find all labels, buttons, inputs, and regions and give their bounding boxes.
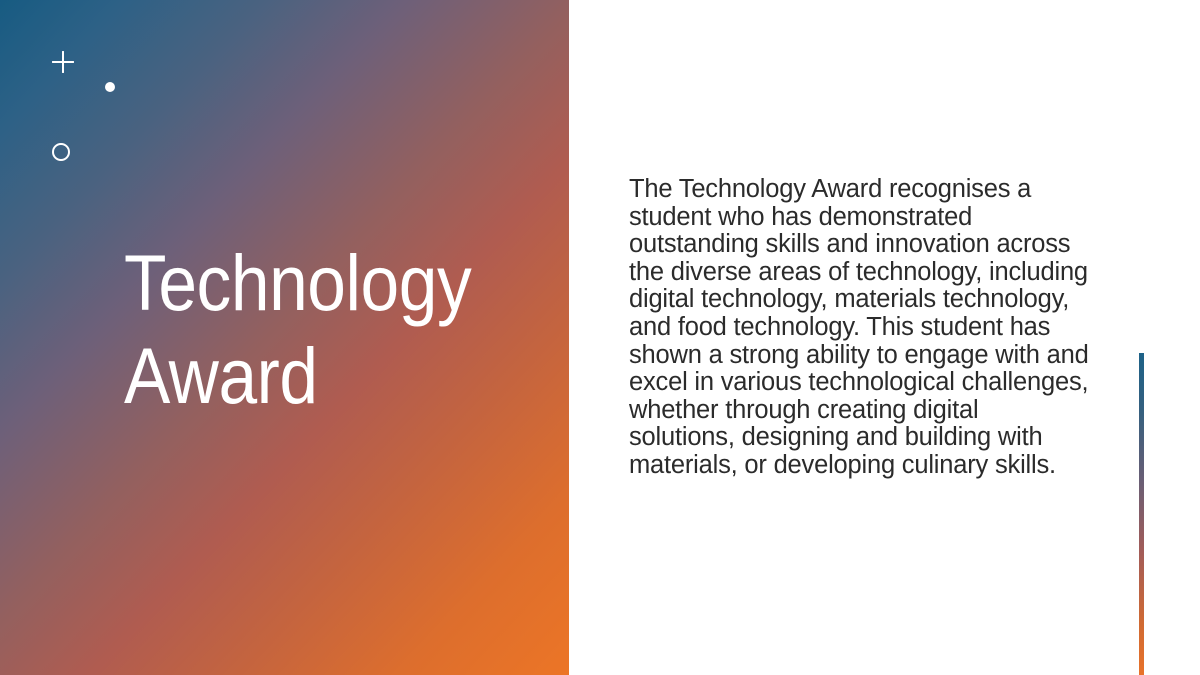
- content-panel: The Technology Award recognises a studen…: [569, 0, 1200, 675]
- plus-icon: [52, 51, 74, 73]
- page-title: Technology Award: [124, 236, 476, 422]
- award-description-text: The Technology Award recognises a studen…: [629, 176, 1089, 480]
- dot-icon: [105, 82, 115, 92]
- award-slide: Technology Award The Technology Award re…: [0, 0, 1200, 675]
- accent-bar: [1139, 353, 1144, 675]
- gradient-panel: Technology Award: [0, 0, 569, 675]
- circle-outline-icon: [52, 143, 70, 161]
